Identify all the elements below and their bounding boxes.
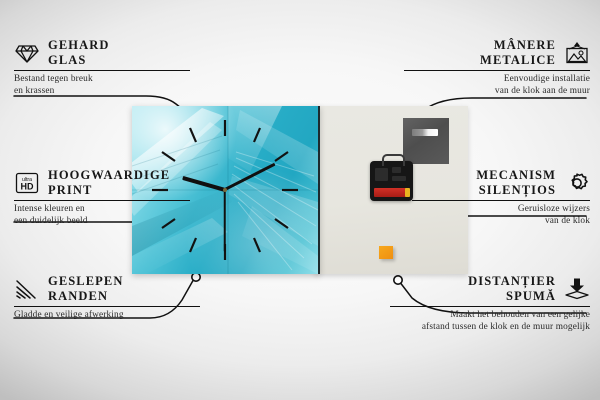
callout-mecanism-silentios: MECANISM SILENȚIOS Geruisloze wijzers va… — [412, 168, 590, 227]
callout-title: MÂNERE METALICE — [480, 38, 556, 67]
callout-hoogwaardige-print: ultra HD HOOGWAARDIGE PRINT Intense kleu… — [14, 168, 190, 227]
callout-subtitle: Intense kleuren en een duidelijk beeld — [14, 204, 190, 227]
callout-title: HOOGWAARDIGE PRINT — [48, 168, 170, 197]
callout-subtitle: Bestand tegen breuk en krassen — [14, 74, 190, 97]
callout-subtitle: Eenvoudige installatie van de klok aan d… — [404, 74, 590, 97]
callout-title: DISTANȚIER SPUMĂ — [468, 274, 556, 303]
callout-gehard-glas: GEHARD GLAS Bestand tegen breuk en krass… — [14, 38, 190, 97]
callout-title: GEHARD GLAS — [48, 38, 109, 67]
callout-rule — [14, 306, 200, 307]
aa-battery — [374, 188, 407, 197]
callout-manere-metalice: MÂNERE METALICE Eenvoudige installatie v… — [404, 38, 590, 97]
hands-pivot — [223, 188, 227, 192]
orange-foam-spacer — [379, 246, 393, 259]
callout-subtitle: Gladde en veilige afwerking — [14, 310, 200, 321]
hanging-bracket — [382, 154, 405, 166]
callout-title: GESLEPEN RANDEN — [48, 274, 124, 303]
beveled-edges-icon — [14, 277, 40, 301]
callout-rule — [14, 200, 190, 201]
clock-mechanism — [370, 161, 413, 201]
callout-distantier-spuma: DISTANȚIER SPUMĂ Maakt het behouden van … — [390, 274, 590, 333]
hanger-slot — [412, 129, 438, 136]
callout-subtitle: Geruisloze wijzers van de klok — [412, 204, 590, 227]
mechanism-detail — [375, 168, 388, 181]
battery-plus-terminal — [405, 188, 410, 197]
metal-hanger-plate — [403, 118, 449, 164]
spacer-press-icon — [564, 277, 590, 301]
gear-icon — [564, 171, 590, 195]
callout-rule — [412, 200, 590, 201]
infographic-canvas: GEHARD GLAS Bestand tegen breuk en krass… — [0, 0, 600, 400]
callout-title: MECANISM SILENȚIOS — [476, 168, 556, 197]
callout-subtitle: Maakt het behouden van een gelijke afsta… — [390, 310, 590, 333]
callout-rule — [404, 70, 590, 71]
callout-geslepen-randen: GESLEPEN RANDEN Gladde en veilige afwerk… — [14, 274, 200, 322]
mechanism-detail — [392, 176, 406, 181]
ultra-hd-icon: ultra HD — [14, 171, 40, 195]
second-hand — [224, 190, 226, 252]
callout-rule — [390, 306, 590, 307]
diamond-icon — [14, 41, 40, 65]
picture-hanger-icon — [564, 41, 590, 65]
ultra-hd-icon-bottom: HD — [21, 181, 34, 191]
mechanism-detail — [392, 167, 401, 173]
callout-rule — [14, 70, 190, 71]
